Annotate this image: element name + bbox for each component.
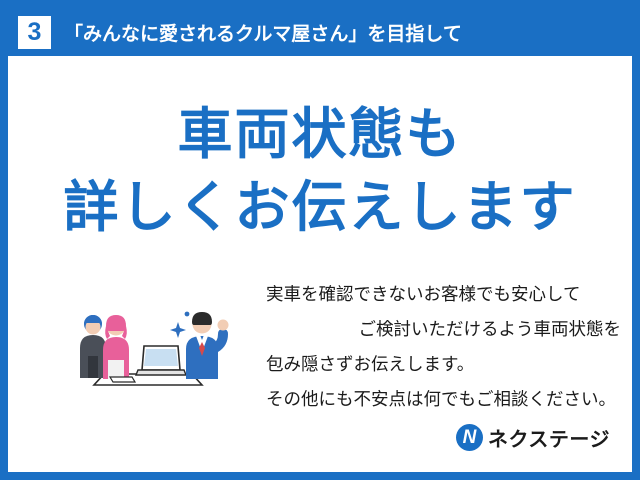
- promo-banner: 3 「みんなに愛されるクルマ屋さん」を目指して 車両状態も 詳しくお伝えします: [0, 0, 640, 480]
- frame-border-bottom: [0, 472, 640, 480]
- message-block: 実車を確認できないお客様でも安心して ご検討いただけるよう車両状態を 包み隠さず…: [266, 278, 621, 418]
- illustration-staff-and-customers: [66, 278, 256, 390]
- headline: 車両状態も 詳しくお伝えします: [8, 98, 632, 243]
- header-bar: 3 「みんなに愛されるクルマ屋さん」を目指して: [8, 8, 632, 56]
- headline-line-2: 詳しくお伝えします: [8, 171, 632, 244]
- message-line-1: 実車を確認できないお客様でも安心して: [266, 278, 621, 313]
- brand-logo: N ネクステージ: [456, 423, 610, 452]
- frame-border-left: [0, 0, 8, 480]
- frame-border-top: [0, 0, 640, 8]
- frame-border-right: [632, 0, 640, 480]
- step-number-badge: 3: [18, 16, 51, 49]
- brand-name: ネクステージ: [488, 423, 610, 452]
- header-title: 「みんなに愛されるクルマ屋さん」を目指して: [64, 19, 462, 46]
- message-line-2: ご検討いただけるよう車両状態を: [266, 313, 621, 348]
- message-line-4: その他にも不安点は何でもご相談ください。: [266, 383, 621, 418]
- headline-line-1: 車両状態も: [177, 102, 462, 166]
- message-line-3: 包み隠さずお伝えします。: [266, 348, 621, 383]
- nexstage-logo-icon: N: [456, 424, 483, 451]
- content-area: 車両状態も 詳しくお伝えします: [8, 56, 632, 472]
